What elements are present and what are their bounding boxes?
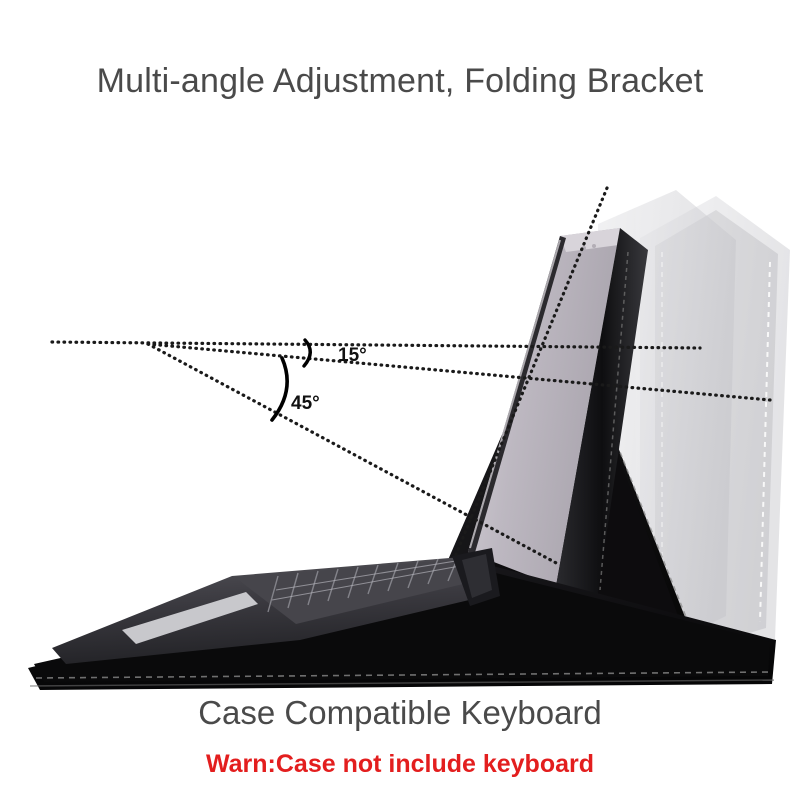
caption-text: Case Compatible Keyboard <box>0 694 800 732</box>
angle-label-45: 45° <box>291 393 320 415</box>
product-marketing-image: Multi-angle Adjustment, Folding Bracket <box>0 0 800 800</box>
angle-diagram <box>0 0 800 800</box>
ray-15-degrees <box>148 344 770 400</box>
angle-label-15: 15° <box>338 345 367 367</box>
warning-text: Warn:Case not include keyboard <box>0 750 800 779</box>
